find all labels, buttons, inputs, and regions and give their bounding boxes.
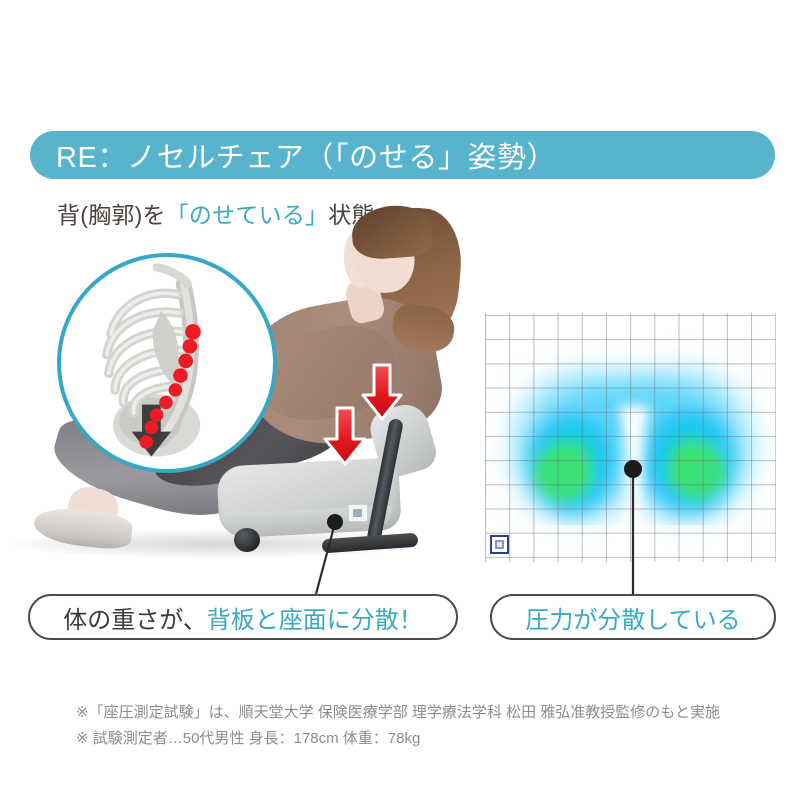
seat-pressure-distribution-map [485,313,776,562]
callout-left-highlight: 背板と座面に分散！ [207,600,423,635]
ribcage-spine-closeup [57,253,277,473]
title-banner: RE：ノセルチェア（「のせる」姿勢） [30,131,775,179]
footnotes: ※「座圧測定試験」は、順天堂大学 保険医療学部 理学療法学科 松田 雅弘准教授監… [76,700,720,753]
seat-pressure-arrow-icon [322,405,368,467]
chair-tag-label [348,504,368,522]
chair-caster [234,528,260,552]
model-shoe [32,505,133,551]
pressure-map-grid [485,313,776,562]
footnote-2: ※ 試験測定者…50代男性 身長：178cm 体重：78kg [76,726,720,752]
page-title: RE：ノセルチェア（「のせる」姿勢） [56,134,556,176]
product-infographic: RE：ノセルチェア（「のせる」姿勢） 背(胸郭)を「のせている」状態 [0,0,800,800]
callout-right-highlight: 圧力が分散している [525,600,740,635]
callout-left-plain: 体の重さが、 [63,600,207,635]
callout-left: 体の重さが、背板と座面に分散！ [28,594,458,640]
callout-right: 圧力が分散している [490,594,776,640]
model-hair-top [350,203,433,260]
footnote-1: ※「座圧測定試験」は、順天堂大学 保険医療学部 理学療法学科 松田 雅弘准教授監… [76,700,720,726]
skeleton-illustration [61,257,273,469]
sensor-origin-marker [490,535,509,554]
